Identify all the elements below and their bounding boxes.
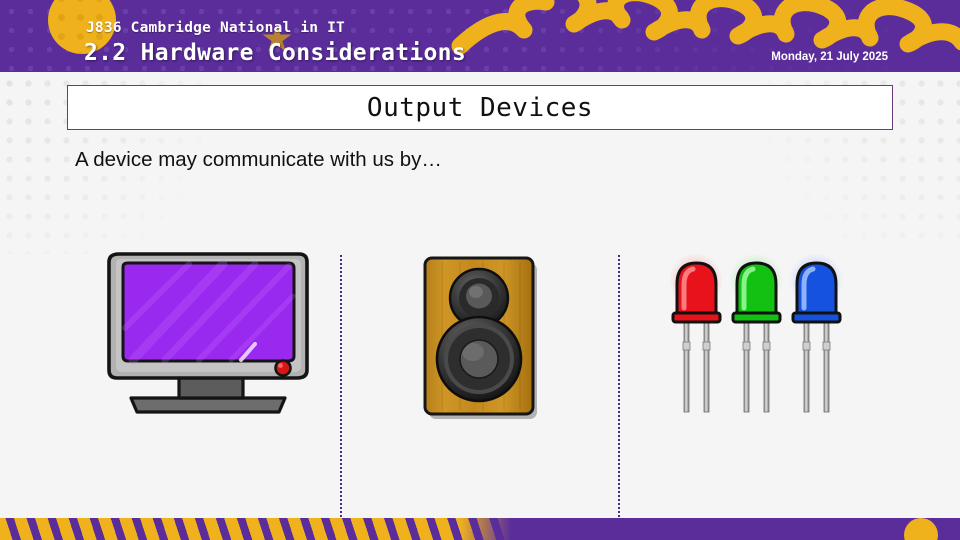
speaker-icon xyxy=(420,254,542,422)
monitor-icon xyxy=(103,248,313,420)
header-unit-title: 2.2 Hardware Considerations xyxy=(84,40,466,66)
output-device-column-led: Using a light xyxy=(622,248,890,518)
column-divider-2 xyxy=(618,255,620,517)
output-device-column-speaker: Making a sound xyxy=(345,248,615,518)
slide-title-box: Output Devices xyxy=(67,85,893,130)
led-lights-icon xyxy=(660,252,852,430)
footer-yellow-circle-icon xyxy=(904,518,938,540)
header-course-code: J836 Cambridge National in IT xyxy=(86,20,345,36)
slide-canvas: J836 Cambridge National in IT 2.2 Hardwa… xyxy=(0,0,960,540)
header-date: Monday, 21 July 2025 xyxy=(771,51,888,63)
page-title: Output Devices xyxy=(367,93,593,123)
column-divider-1 xyxy=(340,255,342,517)
slide-footer xyxy=(0,518,960,540)
output-device-column-monitor: Changing what’s on a screen xyxy=(75,248,340,518)
slide-header: J836 Cambridge National in IT 2.2 Hardwa… xyxy=(0,0,960,72)
footer-stripe-pattern xyxy=(0,518,520,540)
header-scribble-icon xyxy=(450,0,960,58)
slide-subtitle: A device may communicate with us by… xyxy=(75,148,442,172)
